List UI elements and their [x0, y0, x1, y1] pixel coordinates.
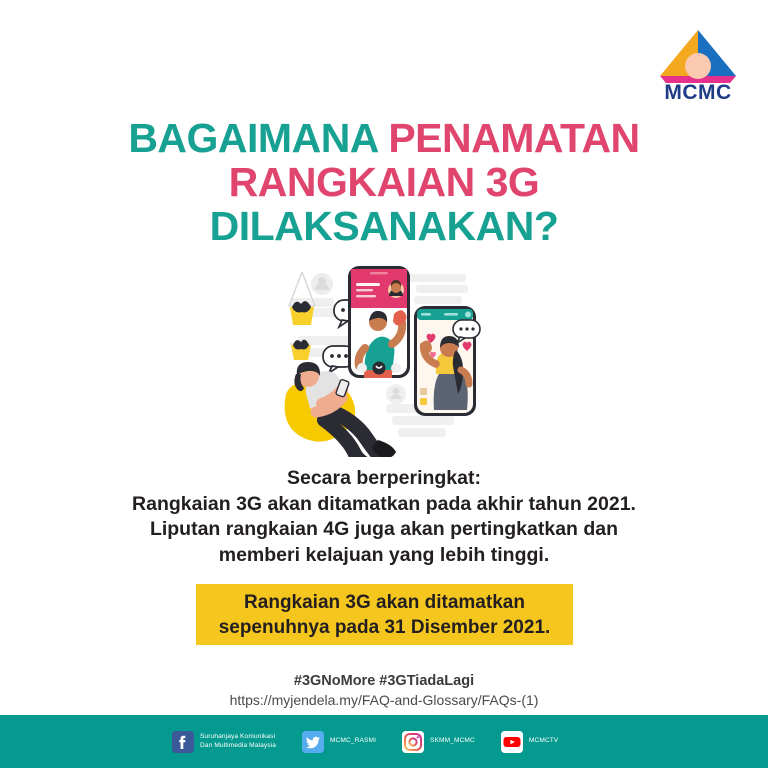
headline-line-3: DILAKSANAKAN?: [0, 204, 768, 248]
social-instagram[interactable]: SKMM_MCMC: [402, 731, 475, 753]
youtube-icon: [501, 731, 523, 753]
headline-line-1: BAGAIMANA PENAMATAN: [0, 116, 768, 160]
source-url[interactable]: https://myjendela.my/FAQ-and-Glossary/FA…: [0, 692, 768, 708]
facebook-label-line2: Dan Multimedia Malaysia: [200, 742, 276, 749]
body-line-3: Liputan rangkaian 4G juga akan pertingka…: [0, 517, 768, 543]
social-youtube[interactable]: MCMCTV: [501, 731, 559, 753]
twitter-icon: [302, 731, 324, 753]
social-twitter[interactable]: MCMC_RASMI: [302, 731, 376, 753]
mcmc-logo: MCMC: [650, 26, 746, 104]
body-line-2: Rangkaian 3G akan ditamatkan pada akhir …: [0, 492, 768, 518]
video-call-illustration: [268, 252, 500, 457]
body-line-4: memberi kelajuan yang lebih tinggi.: [0, 543, 768, 569]
headline-line-2: RANGKAIAN 3G: [0, 160, 768, 204]
facebook-label: Suruhanjaya KomunikasiDan Multimedia Mal…: [200, 733, 276, 749]
infographic-poster: MCMC BAGAIMANA PENAMATAN RANGKAIAN 3G DI…: [0, 0, 768, 768]
youtube-label: MCMCTV: [529, 737, 559, 745]
callout-line-1: Rangkaian 3G akan ditamatkan: [244, 590, 525, 615]
svg-text:MCMC: MCMC: [664, 81, 731, 104]
body-copy: Secara berperingkat: Rangkaian 3G akan d…: [0, 466, 768, 568]
callout-line-2: sepenuhnya pada 31 Disember 2021.: [219, 615, 551, 640]
highlight-callout: Rangkaian 3G akan ditamatkan sepenuhnya …: [196, 584, 573, 645]
social-footer: Suruhanjaya KomunikasiDan Multimedia Mal…: [0, 715, 768, 768]
facebook-icon: [172, 731, 194, 753]
facebook-label-line1: Suruhanjaya Komunikasi: [200, 733, 275, 740]
instagram-icon: [402, 731, 424, 753]
headline-word-bagaimana: BAGAIMANA: [128, 115, 377, 161]
body-line-1: Secara berperingkat:: [0, 466, 768, 492]
page-title: BAGAIMANA PENAMATAN RANGKAIAN 3G DILAKSA…: [0, 116, 768, 248]
headline-word-penamatan: PENAMATAN: [388, 115, 639, 161]
twitter-label: MCMC_RASMI: [330, 737, 376, 745]
hashtags: #3GNoMore #3GTiadaLagi: [0, 673, 768, 689]
instagram-label: SKMM_MCMC: [430, 737, 475, 745]
social-facebook[interactable]: Suruhanjaya KomunikasiDan Multimedia Mal…: [172, 731, 276, 753]
